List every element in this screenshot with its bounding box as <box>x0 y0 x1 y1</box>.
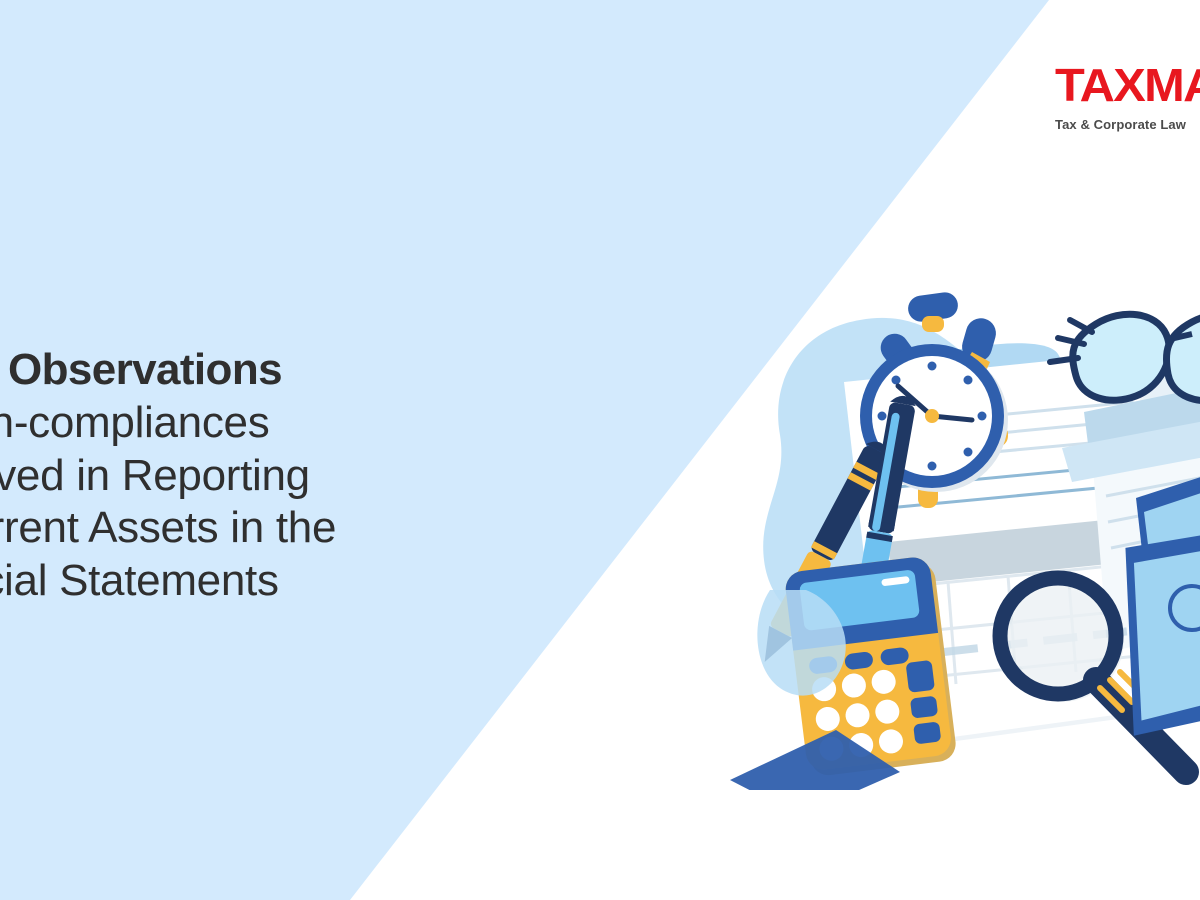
headline-line-2: Non-compliances <box>0 397 574 450</box>
headline-line-3: served in Reporting <box>0 450 574 503</box>
logo-tagline: Tax & Corporate Law <box>1055 117 1200 132</box>
headline-line-5: ancial Statements <box>0 555 574 608</box>
headline-line-4: Current Assets in the <box>0 502 574 555</box>
logo-wordmark: TAXMA <box>1055 62 1200 108</box>
banner-headline: RB Observations Non-compliances served i… <box>0 344 574 608</box>
headline-line-1: RB Observations <box>0 344 574 397</box>
taxmann-logo[interactable]: TAXMA Tax & Corporate Law <box>1055 62 1200 132</box>
financial-audit-illustration <box>740 260 1200 780</box>
banner-canvas: RB Observations Non-compliances served i… <box>0 0 1200 900</box>
